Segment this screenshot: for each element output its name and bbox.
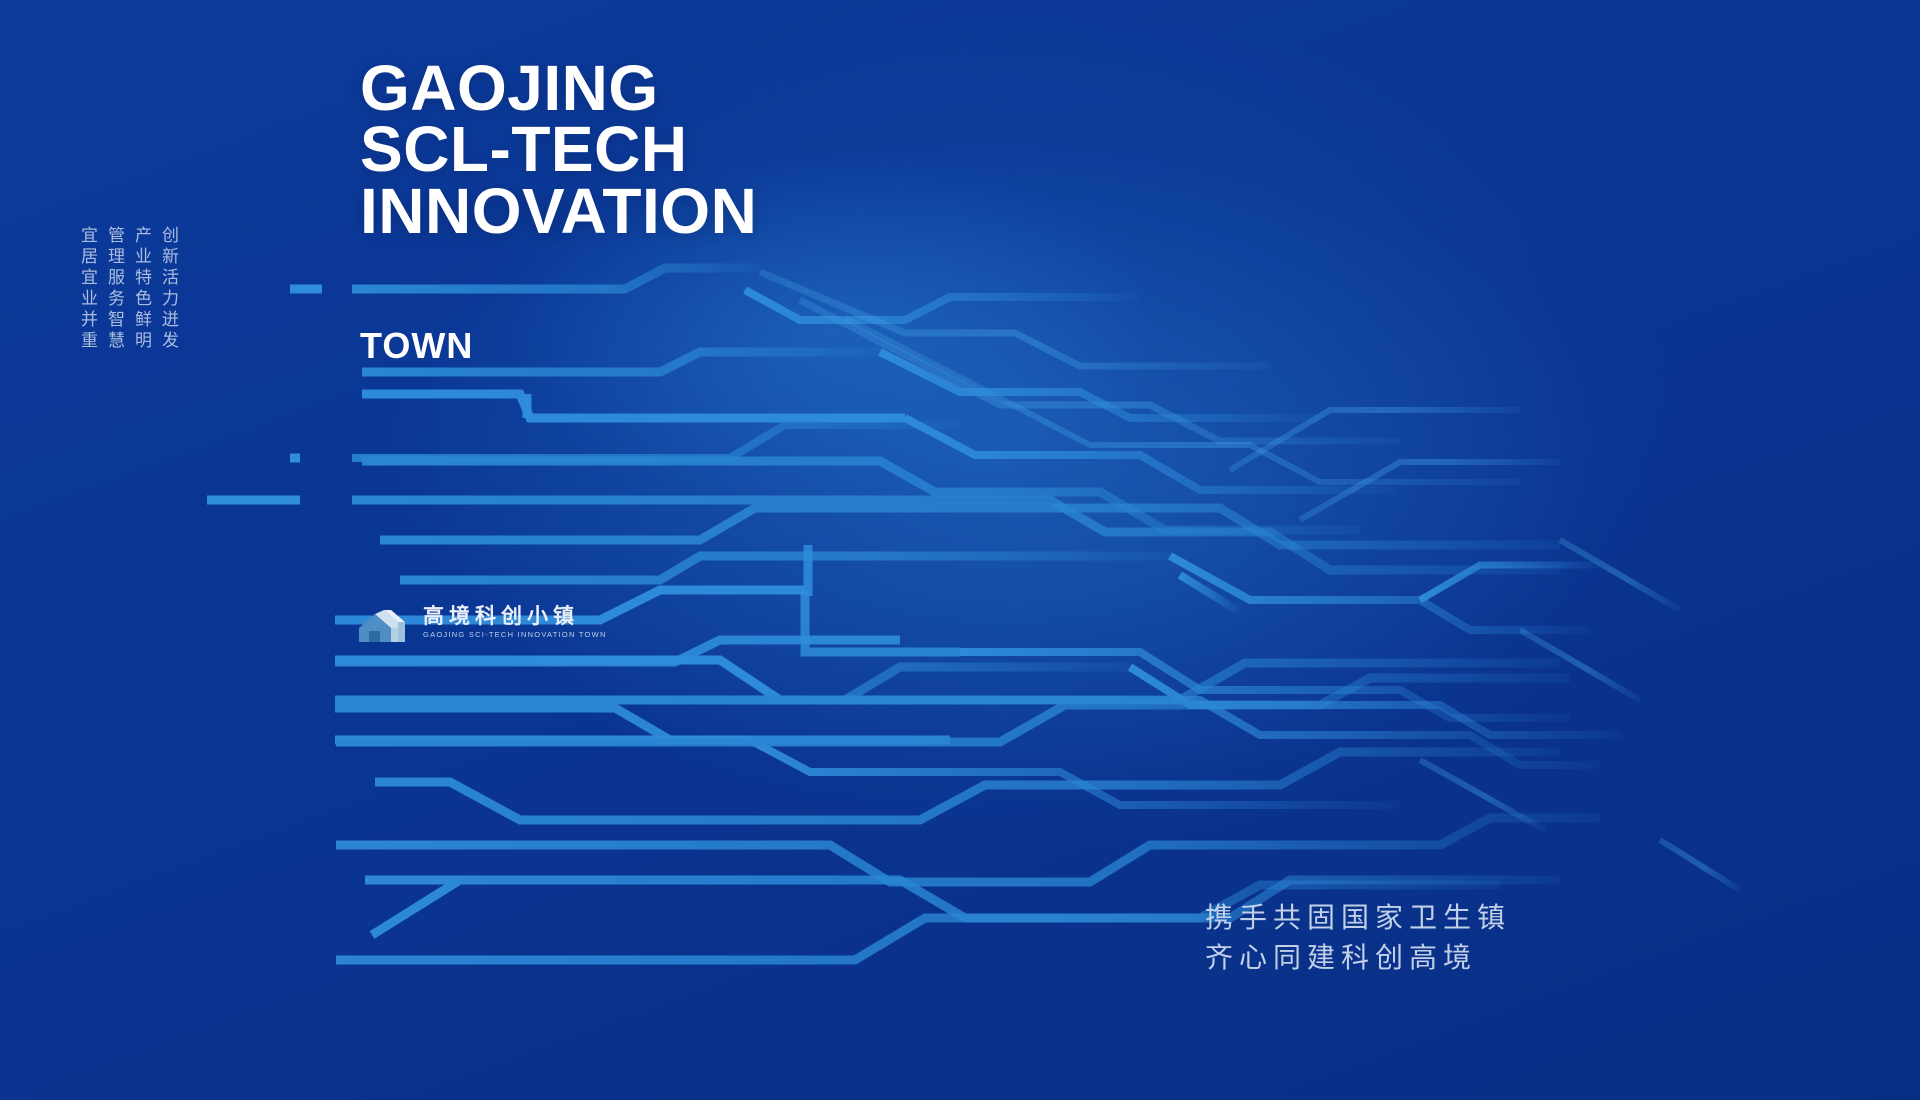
house-building-icon [358, 602, 413, 642]
page-subtitle: TOWN [360, 325, 473, 367]
circuit-line-background [0, 0, 1920, 1100]
bottom-slogan: 携手共固国家卫生镇 齐心同建科创高境 [1205, 898, 1511, 978]
vertical-slogan-col-2: 产业特色鲜明 [132, 226, 149, 406]
poster-canvas: 创新活力迸发 产业特色鲜明 管理服务智慧 宜居宜业并重 GAOJING SCL-… [0, 0, 1920, 1100]
bottom-slogan-line-1: 携手共固国家卫生镇 [1205, 898, 1511, 938]
page-title: GAOJING SCL-TECH INNOVATION [360, 58, 757, 242]
logo-name-cn: 高境科创小镇 [423, 605, 607, 628]
bottom-slogan-line-2: 齐心同建科创高境 [1205, 938, 1511, 978]
logo-name-en: GAOJING SCI-TECH INNOVATION TOWN [423, 631, 607, 639]
vertical-slogan-col-3: 管理服务智慧 [105, 226, 122, 406]
vertical-slogan: 创新活力迸发 产业特色鲜明 管理服务智慧 宜居宜业并重 [78, 226, 176, 406]
vertical-slogan-col-4: 宜居宜业并重 [78, 226, 95, 406]
vertical-slogan-col-1: 创新活力迸发 [159, 226, 176, 406]
logo-text-block: 高境科创小镇 GAOJING SCI-TECH INNOVATION TOWN [423, 605, 607, 639]
brand-logo: 高境科创小镇 GAOJING SCI-TECH INNOVATION TOWN [358, 602, 607, 642]
